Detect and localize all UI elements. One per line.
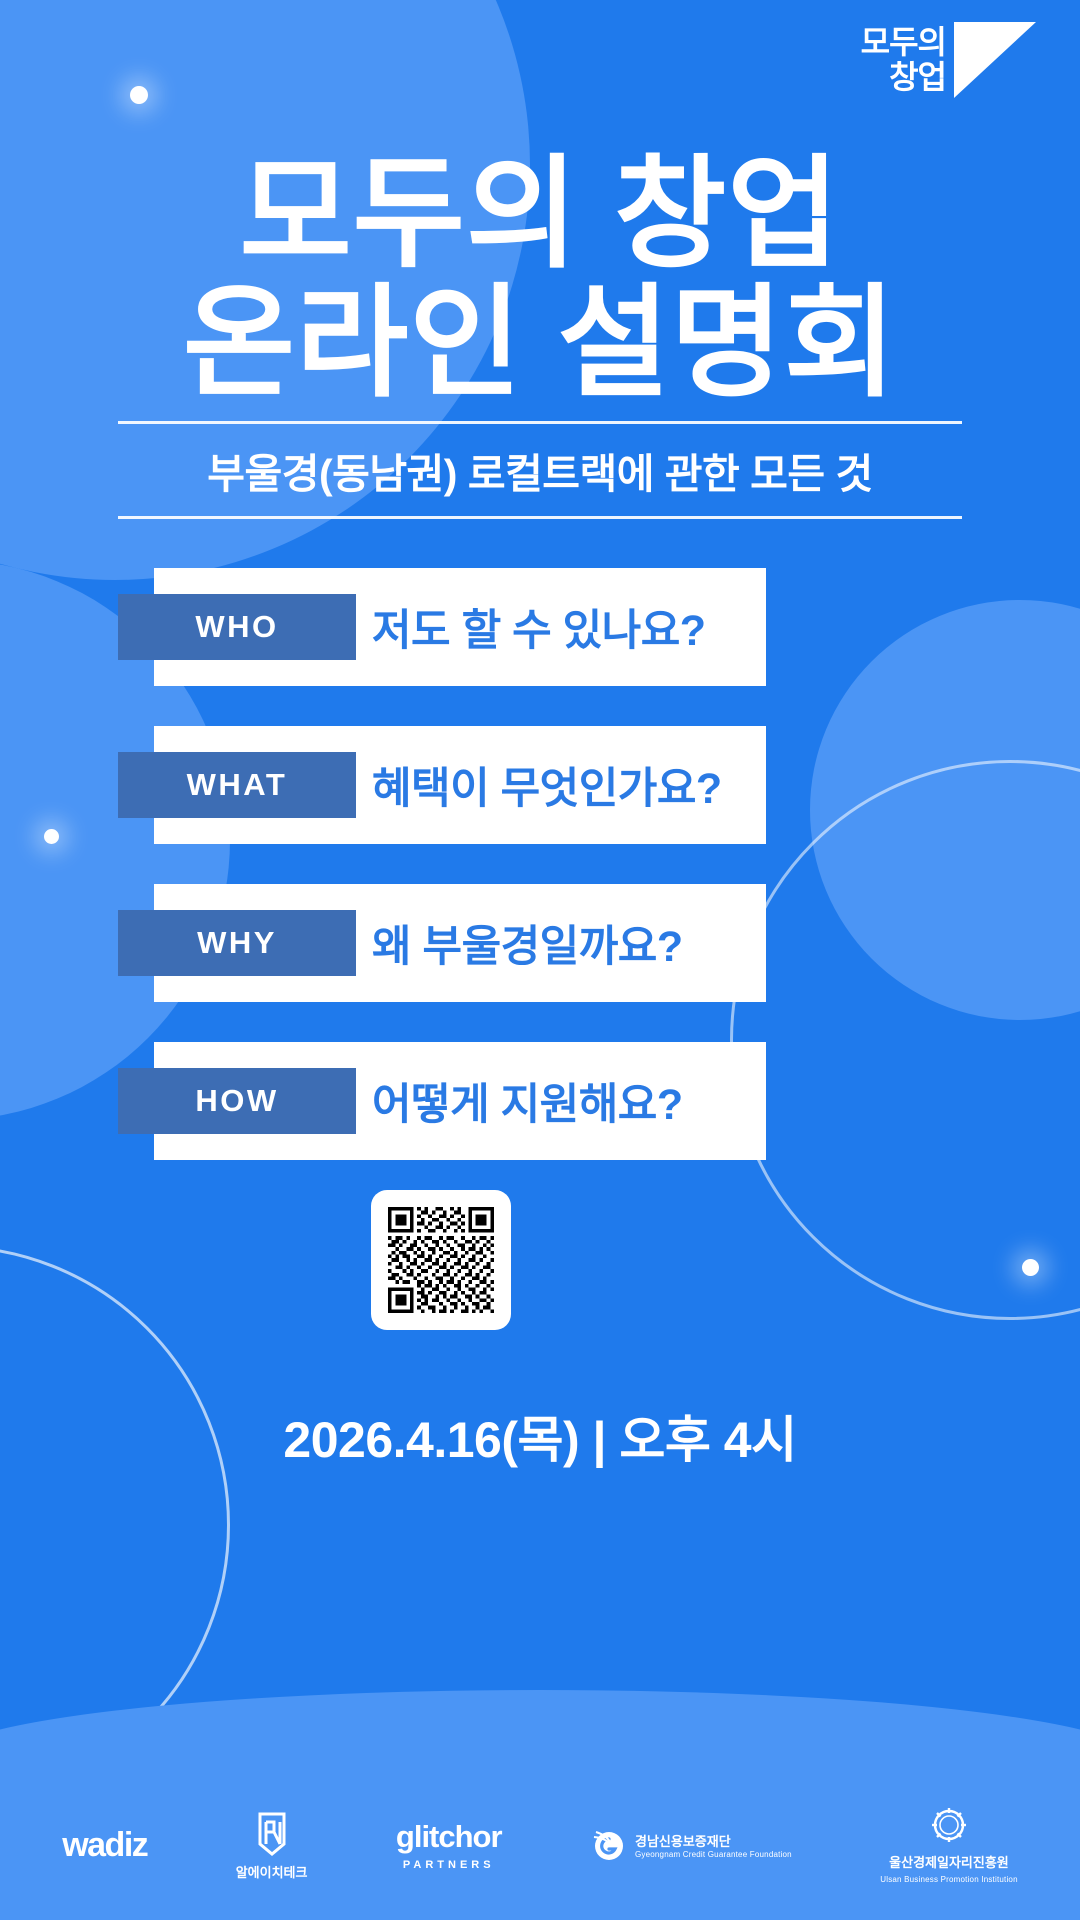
question-text: 어떻게 지원해요? [372,1042,752,1160]
question-tag: WHAT [118,752,356,818]
partner-logo-glitchor: glitchor PARTNERS [396,1819,502,1871]
decorative-dot-3 [1022,1259,1039,1276]
divider-bottom [118,516,962,519]
brand-logo-line2: 창업 [861,60,946,95]
play-triangle-icon [954,22,1036,98]
partner-logo-wadiz: wadiz [62,1826,147,1865]
partner-logo-gyeongnam-credit-guarantee-foundation: 경남신용보증재단 Gyeongnam Credit Guarantee Foun… [590,1826,792,1864]
divider-top [118,421,962,424]
event-date-time: 2026.4.16(목) | 오후 4시 [0,1400,1080,1472]
partner-logos: wadiz 알에이치테크 glitchor PARTNERS [0,1790,1080,1900]
question-card: WHO 저도 할 수 있나요? [154,568,766,686]
glitchor-subtitle: PARTNERS [403,1859,495,1871]
rh-tech-icon [252,1810,292,1858]
title-line-1: 모두의 창업 [0,150,1080,279]
partner-logo-ulsan-business-promotion-institution: 울산경제일자리진흥원 Ulsan Business Promotion Inst… [880,1806,1018,1884]
question-text: 왜 부울경일까요? [372,884,752,1002]
qr-code-card[interactable] [371,1190,511,1330]
question-tag-label: WHAT [187,767,288,803]
question-card: WHAT 혜택이 무엇인가요? [154,726,766,844]
question-tag-label: WHO [195,609,278,645]
ulsan-institution-label-kr: 울산경제일자리진흥원 [889,1852,1009,1871]
gyeongnam-foundation-label-en: Gyeongnam Credit Guarantee Foundation [635,1850,792,1859]
brand-logo-line1: 모두의 [861,25,946,60]
ulsan-institution-label-en: Ulsan Business Promotion Institution [880,1875,1018,1884]
qr-code-icon[interactable] [388,1207,494,1313]
brand-logo-text: 모두의 창업 [861,25,946,94]
question-tag: WHY [118,910,356,976]
ulsan-institution-icon [928,1806,970,1848]
title-line-2: 온라인 설명회 [0,279,1080,408]
glitchor-wordmark: glitchor [396,1819,502,1855]
question-text: 저도 할 수 있나요? [372,568,752,686]
poster-title: 모두의 창업 온라인 설명회 [0,150,1080,409]
rh-tech-label: 알에이치테크 [236,1862,308,1881]
decorative-dot-2 [44,829,59,844]
decorative-dot-1 [130,86,148,104]
question-tag-label: HOW [195,1083,278,1119]
partner-logo-rh-tech: 알에이치테크 [236,1810,308,1881]
question-card: WHY 왜 부울경일까요? [154,884,766,1002]
poster-root: 모두의 창업 모두의 창업 온라인 설명회 부울경(동남권) 로컬트랙에 관한 … [0,0,1080,1920]
poster-subtitle: 부울경(동남권) 로컬트랙에 관한 모든 것 [0,440,1080,500]
question-text: 혜택이 무엇인가요? [372,726,752,844]
brand-logo: 모두의 창업 [861,22,1036,98]
decorative-ring-right [730,760,1080,1320]
gyeongnam-foundation-icon [590,1826,628,1864]
question-tag-label: WHY [197,925,277,961]
gyeongnam-foundation-label-kr: 경남신용보증재단 [635,1831,731,1850]
question-tag: WHO [118,594,356,660]
question-card: HOW 어떻게 지원해요? [154,1042,766,1160]
question-tag: HOW [118,1068,356,1134]
wadiz-wordmark: wadiz [62,1826,147,1865]
